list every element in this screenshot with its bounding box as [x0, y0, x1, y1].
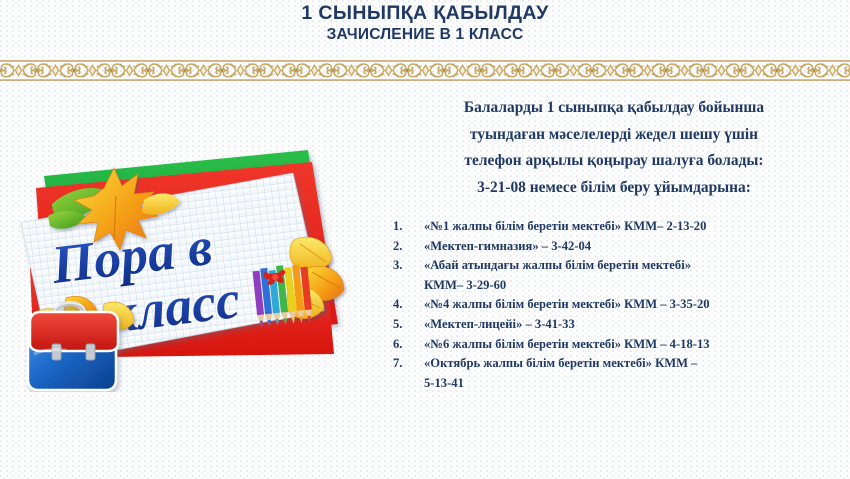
list-item: 3. «Абай атындағы жалпы білім беретін ме…: [388, 256, 840, 295]
list-item-number: 4.: [388, 295, 424, 315]
kazakh-ornament-band: [0, 57, 850, 84]
list-item-number: 6.: [388, 335, 424, 355]
list-item-label: «Мектеп-лицейі» – 3-41-33: [424, 317, 575, 331]
intro-line: 3-21-08 немесе білім беру ұйымдарына:: [392, 175, 836, 202]
list-item: 2. «Мектеп-гимназия» – 3-42-04: [388, 237, 840, 257]
school-satchel: [28, 304, 118, 391]
list-item: 1. «№1 жалпы білім беретін мектебі» КММ–…: [388, 217, 840, 237]
intro-paragraph: Балаларды 1 сыныпқа қабылдау бойынша туы…: [388, 95, 840, 201]
list-item-number: 7.: [388, 354, 424, 374]
list-item-continuation: КММ– 3-29-60: [424, 276, 840, 296]
right-text-column: Балаларды 1 сыныпқа қабылдау бойынша туы…: [388, 95, 840, 393]
list-item-continuation: 5-13-41: [424, 374, 840, 394]
list-item-label: «№1 жалпы білім беретін мектебі» КММ– 2-…: [424, 219, 706, 233]
list-item-number: 3.: [388, 256, 424, 276]
list-item: 7. «Октябрь жалпы білім беретін мектебі»…: [388, 354, 840, 393]
list-item-label: «Абай атындағы жалпы білім беретін мекте…: [424, 258, 691, 272]
intro-line: телефон арқылы қоңырау шалуға болады:: [392, 148, 836, 175]
school-contact-list: 1. «№1 жалпы білім беретін мектебі» КММ–…: [388, 217, 840, 393]
slide-canvas: 1 СЫНЫПҚА ҚАБЫЛДАУ ЗАЧИСЛЕНИЕ В 1 КЛАСС: [0, 0, 850, 479]
page-title-kazakh: 1 СЫНЫПҚА ҚАБЫЛДАУ: [301, 2, 548, 25]
list-item: 4. «№4 жалпы білім беретін мектебі» КММ …: [388, 295, 840, 315]
intro-line: туындаған мәселелерді жедел шешу үшін: [392, 122, 836, 149]
intro-line: Балаларды 1 сыныпқа қабылдау бойынша: [392, 95, 836, 122]
list-item-number: 5.: [388, 315, 424, 335]
page-title-russian: ЗАЧИСЛЕНИЕ В 1 КЛАСС: [327, 25, 524, 45]
list-item-label: «Октябрь жалпы білім беретін мектебі» КМ…: [424, 356, 697, 370]
list-item: 6. «№6 жалпы білім беретін мектебі» КММ …: [388, 335, 840, 355]
list-item: 5. «Мектеп-лицейі» – 3-41-33: [388, 315, 840, 335]
list-item-label: «№6 жалпы білім беретін мектебі» КММ – 4…: [424, 337, 710, 351]
list-item-label: «Мектеп-гимназия» – 3-42-04: [424, 239, 591, 253]
list-item-label: «№4 жалпы білім беретін мектебі» КММ – 3…: [424, 297, 710, 311]
page-header: 1 СЫНЫПҚА ҚАБЫЛДАУ ЗАЧИСЛЕНИЕ В 1 КЛАСС: [0, 0, 850, 52]
list-item-number: 2.: [388, 237, 424, 257]
school-supplies-illustration: Пора в 1 класс: [8, 92, 398, 392]
list-item-number: 1.: [388, 217, 424, 237]
